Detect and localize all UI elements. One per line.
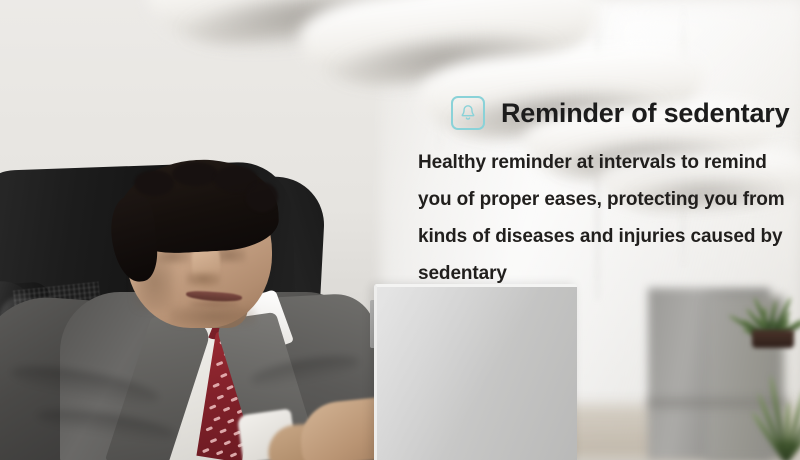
heading-row: Reminder of sedentary [451,96,789,130]
sedentary-reminder-banner: Reminder of sedentary Healthy reminder a… [0,0,800,460]
description-line: you of proper eases, protecting you from [418,181,800,218]
description-line: Healthy reminder at intervals to remind [418,144,800,181]
page-title: Reminder of sedentary [501,100,789,127]
bell-icon [451,96,485,130]
banner-text-overlay: Reminder of sedentary Healthy reminder a… [0,0,800,460]
reminder-description: Healthy reminder at intervals to remind … [418,144,800,292]
description-line: sedentary [418,255,800,292]
description-line: kinds of diseases and injuries caused by [418,218,800,255]
